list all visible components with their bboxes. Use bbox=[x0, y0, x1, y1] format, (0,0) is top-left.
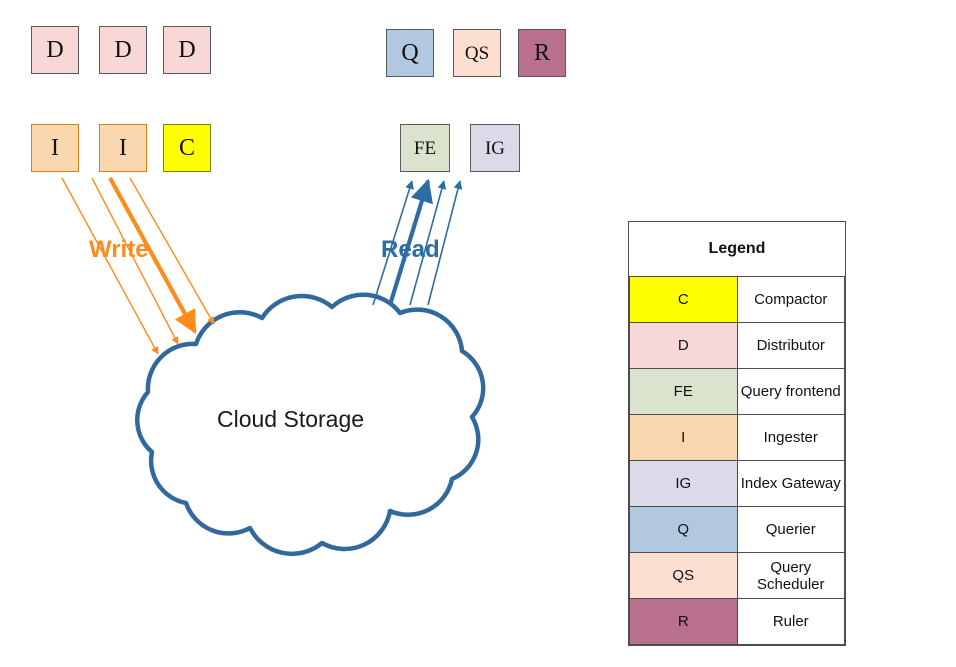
legend-description: Index Gateway bbox=[737, 461, 845, 507]
legend-key-swatch: R bbox=[630, 599, 738, 645]
legend-row: QSQuery Scheduler bbox=[630, 553, 845, 599]
node-c1[interactable]: C bbox=[163, 124, 211, 172]
node-label: I bbox=[119, 136, 127, 160]
legend-description: Ingester bbox=[737, 415, 845, 461]
node-q1[interactable]: Q bbox=[386, 29, 434, 77]
legend-key-swatch: C bbox=[630, 277, 738, 323]
node-ig1[interactable]: IG bbox=[470, 124, 520, 172]
node-label: D bbox=[114, 38, 131, 62]
legend-panel: Legend CCompactorDDistributorFEQuery fro… bbox=[628, 221, 846, 646]
node-label: C bbox=[179, 136, 195, 160]
legend-table: Legend CCompactorDDistributorFEQuery fro… bbox=[629, 222, 845, 645]
legend-description: Querier bbox=[737, 507, 845, 553]
legend-row: RRuler bbox=[630, 599, 845, 645]
legend-row: IGIndex Gateway bbox=[630, 461, 845, 507]
node-d1[interactable]: D bbox=[31, 26, 79, 74]
read-path-label: Read bbox=[381, 238, 440, 262]
legend-row: QQuerier bbox=[630, 507, 845, 553]
legend-description: Distributor bbox=[737, 323, 845, 369]
node-label: R bbox=[534, 41, 550, 65]
node-d3[interactable]: D bbox=[163, 26, 211, 74]
legend-row: IIngester bbox=[630, 415, 845, 461]
node-label: QS bbox=[465, 44, 489, 63]
node-d2[interactable]: D bbox=[99, 26, 147, 74]
node-r1[interactable]: R bbox=[518, 29, 566, 77]
write-path-label: Write bbox=[89, 238, 149, 262]
legend-key-swatch: Q bbox=[630, 507, 738, 553]
write-arrow-1 bbox=[62, 178, 158, 354]
write-arrow-group bbox=[62, 178, 214, 354]
legend-description: Query Scheduler bbox=[737, 553, 845, 599]
node-fe1[interactable]: FE bbox=[400, 124, 450, 172]
node-qs1[interactable]: QS bbox=[453, 29, 501, 77]
node-i1[interactable]: I bbox=[31, 124, 79, 172]
legend-key-swatch: D bbox=[630, 323, 738, 369]
cloud-storage-label: Cloud Storage bbox=[217, 406, 364, 433]
node-label: FE bbox=[414, 139, 436, 158]
legend-row: DDistributor bbox=[630, 323, 845, 369]
diagram-canvas: Cloud Storage Write Read DDDIICQQSRFEIG … bbox=[0, 0, 956, 667]
node-label: IG bbox=[485, 139, 505, 158]
node-label: I bbox=[51, 136, 59, 160]
legend-row: FEQuery frontend bbox=[630, 369, 845, 415]
legend-title: Legend bbox=[630, 222, 845, 277]
node-i2[interactable]: I bbox=[99, 124, 147, 172]
legend-description: Query frontend bbox=[737, 369, 845, 415]
node-label: D bbox=[46, 38, 63, 62]
legend-description: Compactor bbox=[737, 277, 845, 323]
legend-description: Ruler bbox=[737, 599, 845, 645]
node-label: Q bbox=[401, 41, 418, 65]
legend-body: CCompactorDDistributorFEQuery frontendII… bbox=[630, 277, 845, 645]
legend-row: CCompactor bbox=[630, 277, 845, 323]
legend-key-swatch: IG bbox=[630, 461, 738, 507]
node-label: D bbox=[178, 38, 195, 62]
legend-key-swatch: QS bbox=[630, 553, 738, 599]
legend-key-swatch: FE bbox=[630, 369, 738, 415]
legend-key-swatch: I bbox=[630, 415, 738, 461]
